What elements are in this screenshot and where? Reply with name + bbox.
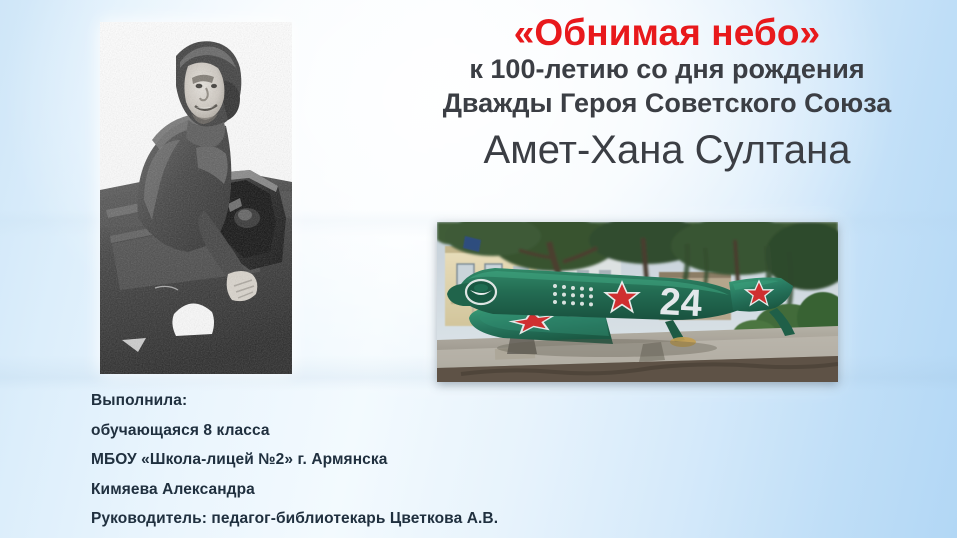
credits-line-3: МБОУ «Школа-лицей №2» г. Армянска <box>91 445 498 475</box>
pilot-photo-viewport <box>100 22 292 374</box>
monument-photo-viewport: 24 <box>437 222 838 382</box>
honoree-name: Амет-Хана Султана <box>386 126 948 174</box>
slide-subtitle-line2: Дважды Героя Советского Союза <box>386 87 948 120</box>
monument-photo-artwork: 24 <box>437 222 838 382</box>
credits-line-4: Кимяева Александра <box>91 475 498 505</box>
credits-line-5: Руководитель: педагог-библиотекарь Цветк… <box>91 504 498 534</box>
credits-line-2: обучающаяся 8 класса <box>91 416 498 446</box>
pilot-photo <box>100 22 292 374</box>
monument-photo: 24 <box>437 222 838 382</box>
slide-title: «Обнимая небо» <box>386 12 948 53</box>
slide-subtitle-line1: к 100-летию со дня рождения <box>386 53 948 86</box>
presentation-slide: «Обнимая небо» к 100-летию со дня рожден… <box>0 0 957 538</box>
title-block: «Обнимая небо» к 100-летию со дня рожден… <box>386 12 948 174</box>
credits-line-1: Выполнила: <box>91 386 498 416</box>
pilot-photo-artwork <box>100 22 292 374</box>
credits-block: Выполнила: обучающаяся 8 класса МБОУ «Шк… <box>91 386 498 534</box>
